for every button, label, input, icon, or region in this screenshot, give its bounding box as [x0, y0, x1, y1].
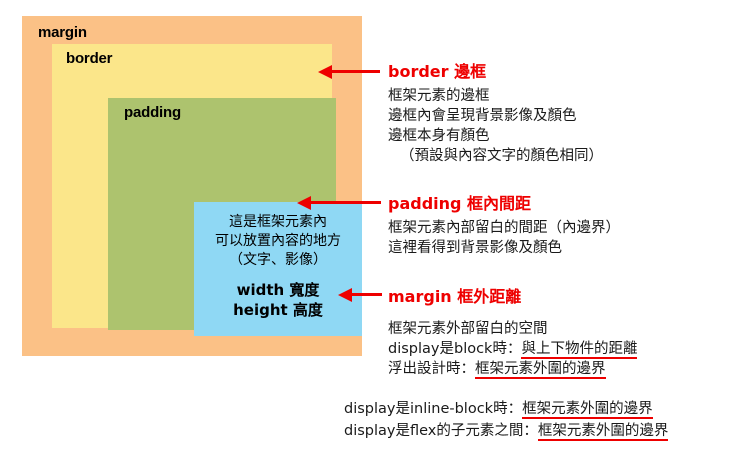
annotation-border-body: 框架元素的邊框 邊框內會呈現背景影像及顏色 邊框本身有顏色 （預設與內容文字的顏… [388, 86, 603, 166]
box-model-nested-boxes: margin border padding 這是框架元素內 可以放置內容的地方 … [22, 16, 362, 356]
annotation-margin-line-3: 浮出設計時：框架元素外圍的邊界 [388, 359, 637, 379]
bottom-note-line-2: display是flex的子元素之間：框架元素外圍的邊界 [344, 420, 668, 442]
content-line-2: 可以放置內容的地方 [194, 232, 362, 251]
padding-label: padding [124, 104, 181, 121]
annotation-margin-line-2: display是block時：與上下物件的距離 [388, 339, 637, 359]
arrow-shaft [309, 201, 381, 204]
bottom-note-line-2-underlined: 框架元素外圍的邊界 [538, 423, 669, 441]
annotation-border: border 邊框 框架元素的邊框 邊框內會呈現背景影像及顏色 邊框本身有顏色 … [388, 58, 603, 166]
annotation-margin-heading: margin 框外距離 [388, 283, 637, 307]
arrow-shaft [330, 70, 380, 73]
annotation-padding-line-1: 框架元素內部留白的間距（內邊界） [388, 218, 620, 238]
annotation-margin-body: 框架元素外部留白的空間 display是block時：與上下物件的距離 浮出設計… [388, 311, 637, 379]
annotation-margin-line-2-underlined: 與上下物件的距離 [521, 341, 637, 359]
bottom-notes: display是inline-block時：框架元素外圍的邊界 display是… [344, 398, 668, 442]
annotation-border-line-1: 框架元素的邊框 [388, 86, 603, 106]
annotation-padding-line-2: 這裡看得到背景影像及顏色 [388, 238, 620, 258]
arrow-shaft [350, 293, 382, 296]
annotation-border-line-4: （預設與內容文字的顏色相同） [388, 146, 603, 166]
annotation-border-line-3: 邊框本身有顏色 [388, 126, 603, 146]
arrow-left-icon-margin [338, 288, 382, 302]
content-width-line: width 寬度 [194, 280, 362, 300]
box-model-diagram: margin border padding 這是框架元素內 可以放置內容的地方 … [0, 0, 750, 461]
content-line-3: （文字、影像） [194, 251, 362, 270]
annotation-margin-line-2-prefix: display是block時： [388, 341, 521, 357]
border-label: border [66, 50, 112, 67]
annotation-border-heading: border 邊框 [388, 58, 603, 82]
content-box: 這是框架元素內 可以放置內容的地方 （文字、影像） width 寬度 heigh… [194, 202, 362, 336]
border-box: border padding 這是框架元素內 可以放置內容的地方 （文字、影像）… [52, 44, 332, 328]
content-line-1: 這是框架元素內 [194, 213, 362, 232]
margin-label: margin [38, 24, 87, 41]
annotation-margin-line-3-prefix: 浮出設計時： [388, 361, 475, 377]
arrow-left-icon-padding [297, 196, 381, 210]
annotation-padding-heading: padding 框內間距 [388, 190, 620, 214]
padding-box: padding 這是框架元素內 可以放置內容的地方 （文字、影像） width … [108, 98, 336, 330]
bottom-note-line-1-prefix: display是inline-block時： [344, 401, 522, 417]
annotation-padding-body: 框架元素內部留白的間距（內邊界） 這裡看得到背景影像及顏色 [388, 218, 620, 258]
arrow-left-icon-border [318, 65, 380, 79]
bottom-note-line-1: display是inline-block時：框架元素外圍的邊界 [344, 398, 668, 420]
annotation-margin: margin 框外距離 框架元素外部留白的空間 display是block時：與… [388, 283, 637, 379]
annotation-margin-line-1: 框架元素外部留白的空間 [388, 319, 637, 339]
bottom-note-line-1-underlined: 框架元素外圍的邊界 [522, 401, 653, 419]
bottom-note-line-2-prefix: display是flex的子元素之間： [344, 423, 538, 439]
content-height-line: height 高度 [194, 300, 362, 320]
content-box-text: 這是框架元素內 可以放置內容的地方 （文字、影像） width 寬度 heigh… [194, 202, 362, 320]
annotation-border-line-2: 邊框內會呈現背景影像及顏色 [388, 106, 603, 126]
annotation-padding: padding 框內間距 框架元素內部留白的間距（內邊界） 這裡看得到背景影像及… [388, 190, 620, 258]
margin-box: margin border padding 這是框架元素內 可以放置內容的地方 … [22, 16, 362, 356]
content-spacer [194, 270, 362, 280]
annotation-margin-line-3-underlined: 框架元素外圍的邊界 [475, 361, 606, 379]
